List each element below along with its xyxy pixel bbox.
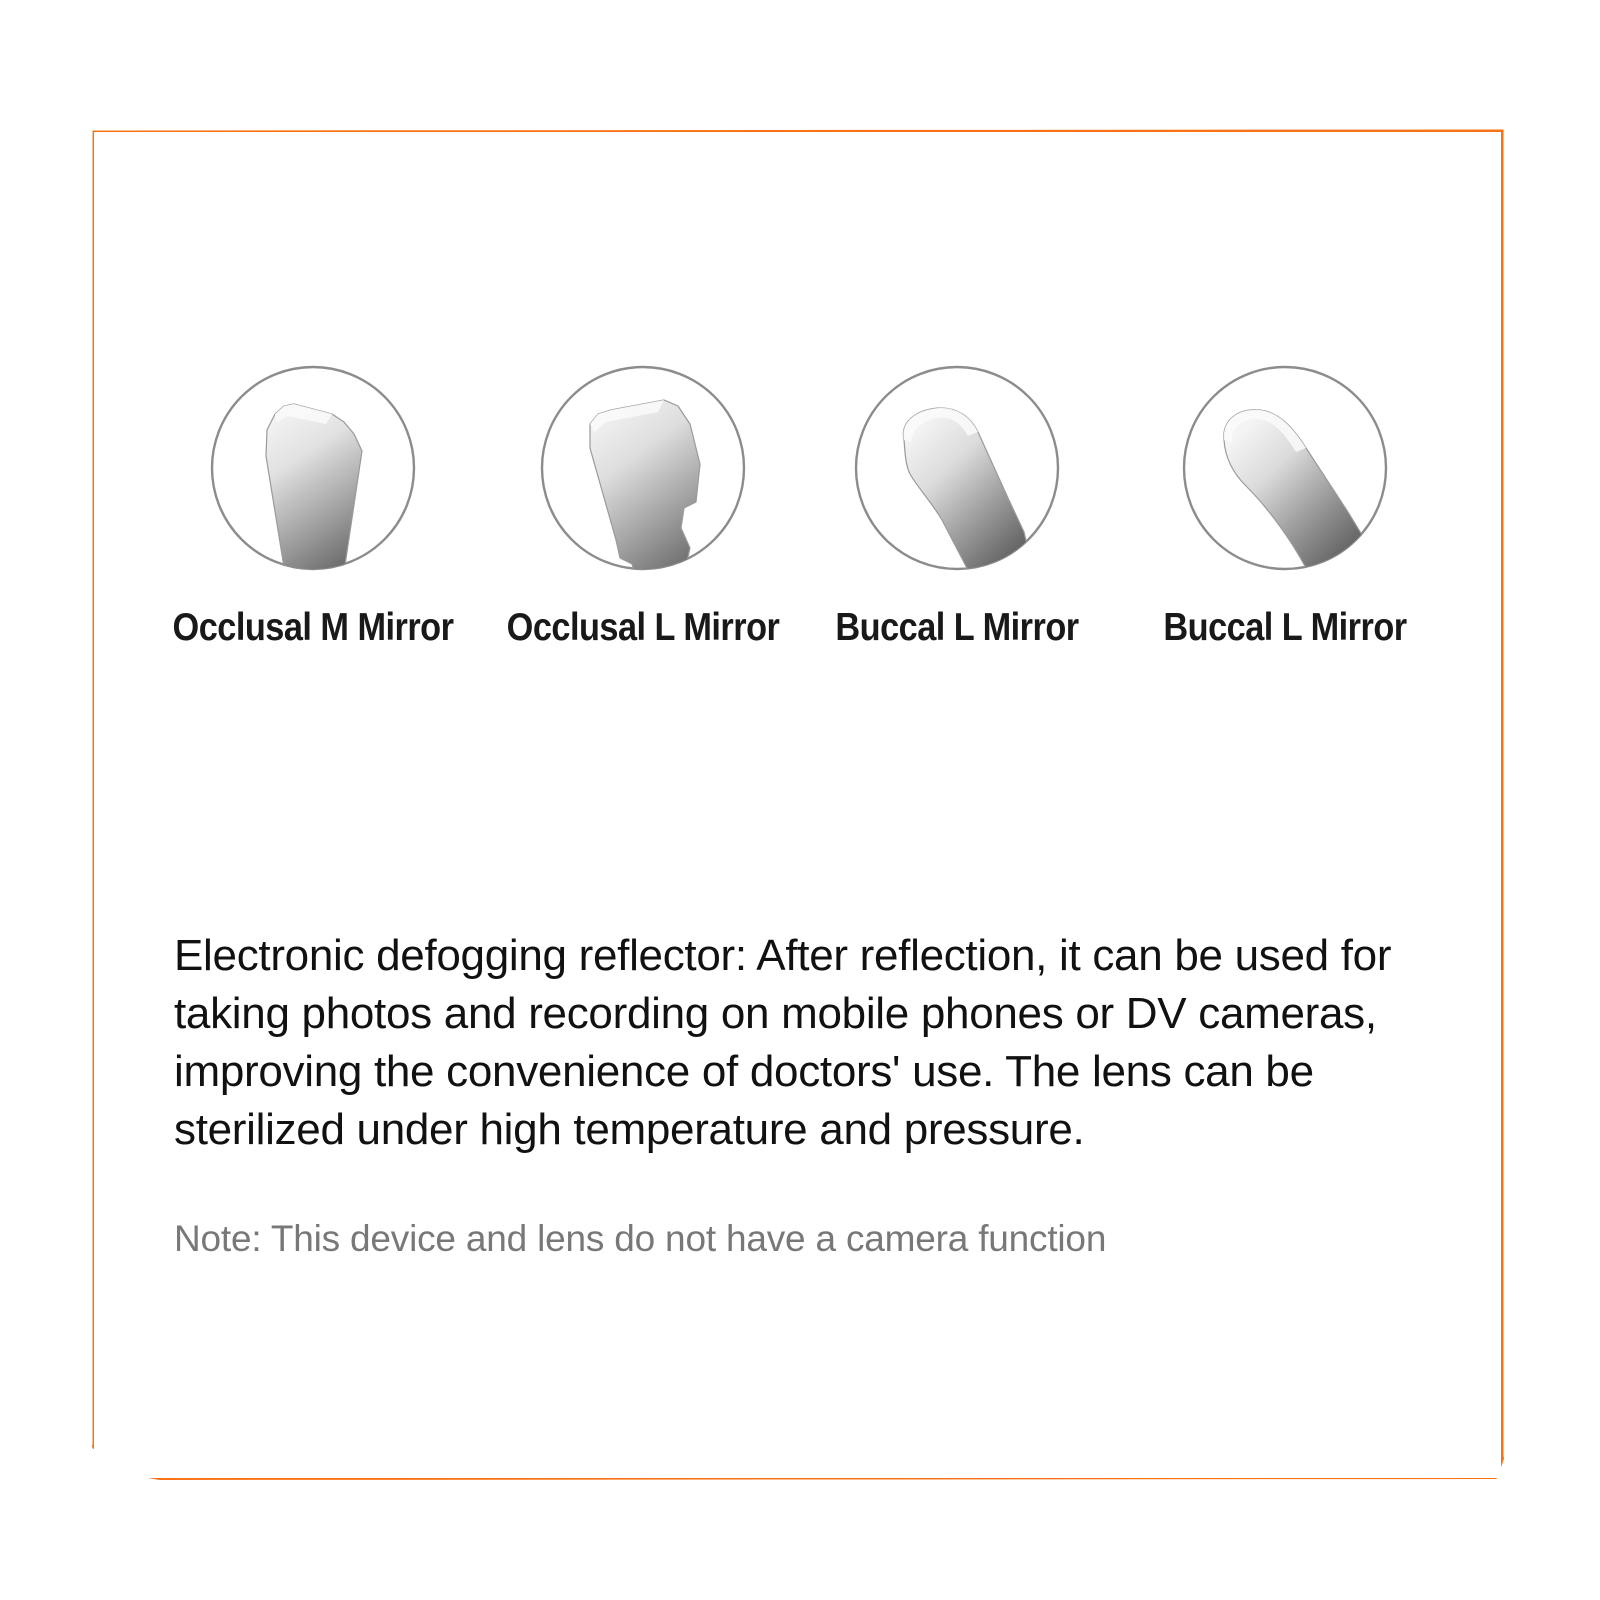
product-label: Buccal L Mirror	[812, 606, 1102, 650]
buccal-l-mirror-icon-a	[792, 352, 1122, 584]
product-detail-page: Occlusal M Mirror	[0, 0, 1600, 1600]
description-block: Electronic defogging reflector: After re…	[174, 927, 1444, 1263]
product-item-occlusal-m-mirror[interactable]: Occlusal M Mirror	[148, 352, 478, 650]
description-body: Electronic defogging reflector: After re…	[174, 927, 1444, 1159]
product-label: Buccal L Mirror	[1140, 606, 1430, 650]
buccal-l-mirror-icon-b	[1120, 352, 1450, 584]
description-note: Note: This device and lens do not have a…	[174, 1215, 1444, 1263]
occlusal-m-mirror-icon	[148, 352, 478, 584]
product-thumbnail-row: Occlusal M Mirror	[94, 352, 1501, 822]
product-item-buccal-l-mirror-b[interactable]: Buccal L Mirror	[1120, 352, 1450, 650]
product-item-occlusal-l-mirror[interactable]: Occlusal L Mirror	[478, 352, 808, 650]
content-card: Occlusal M Mirror	[94, 132, 1501, 1478]
product-label: Occlusal L Mirror	[498, 606, 788, 650]
occlusal-l-mirror-icon	[478, 352, 808, 584]
product-item-buccal-l-mirror-a[interactable]: Buccal L Mirror	[792, 352, 1122, 650]
product-label: Occlusal M Mirror	[168, 606, 458, 650]
